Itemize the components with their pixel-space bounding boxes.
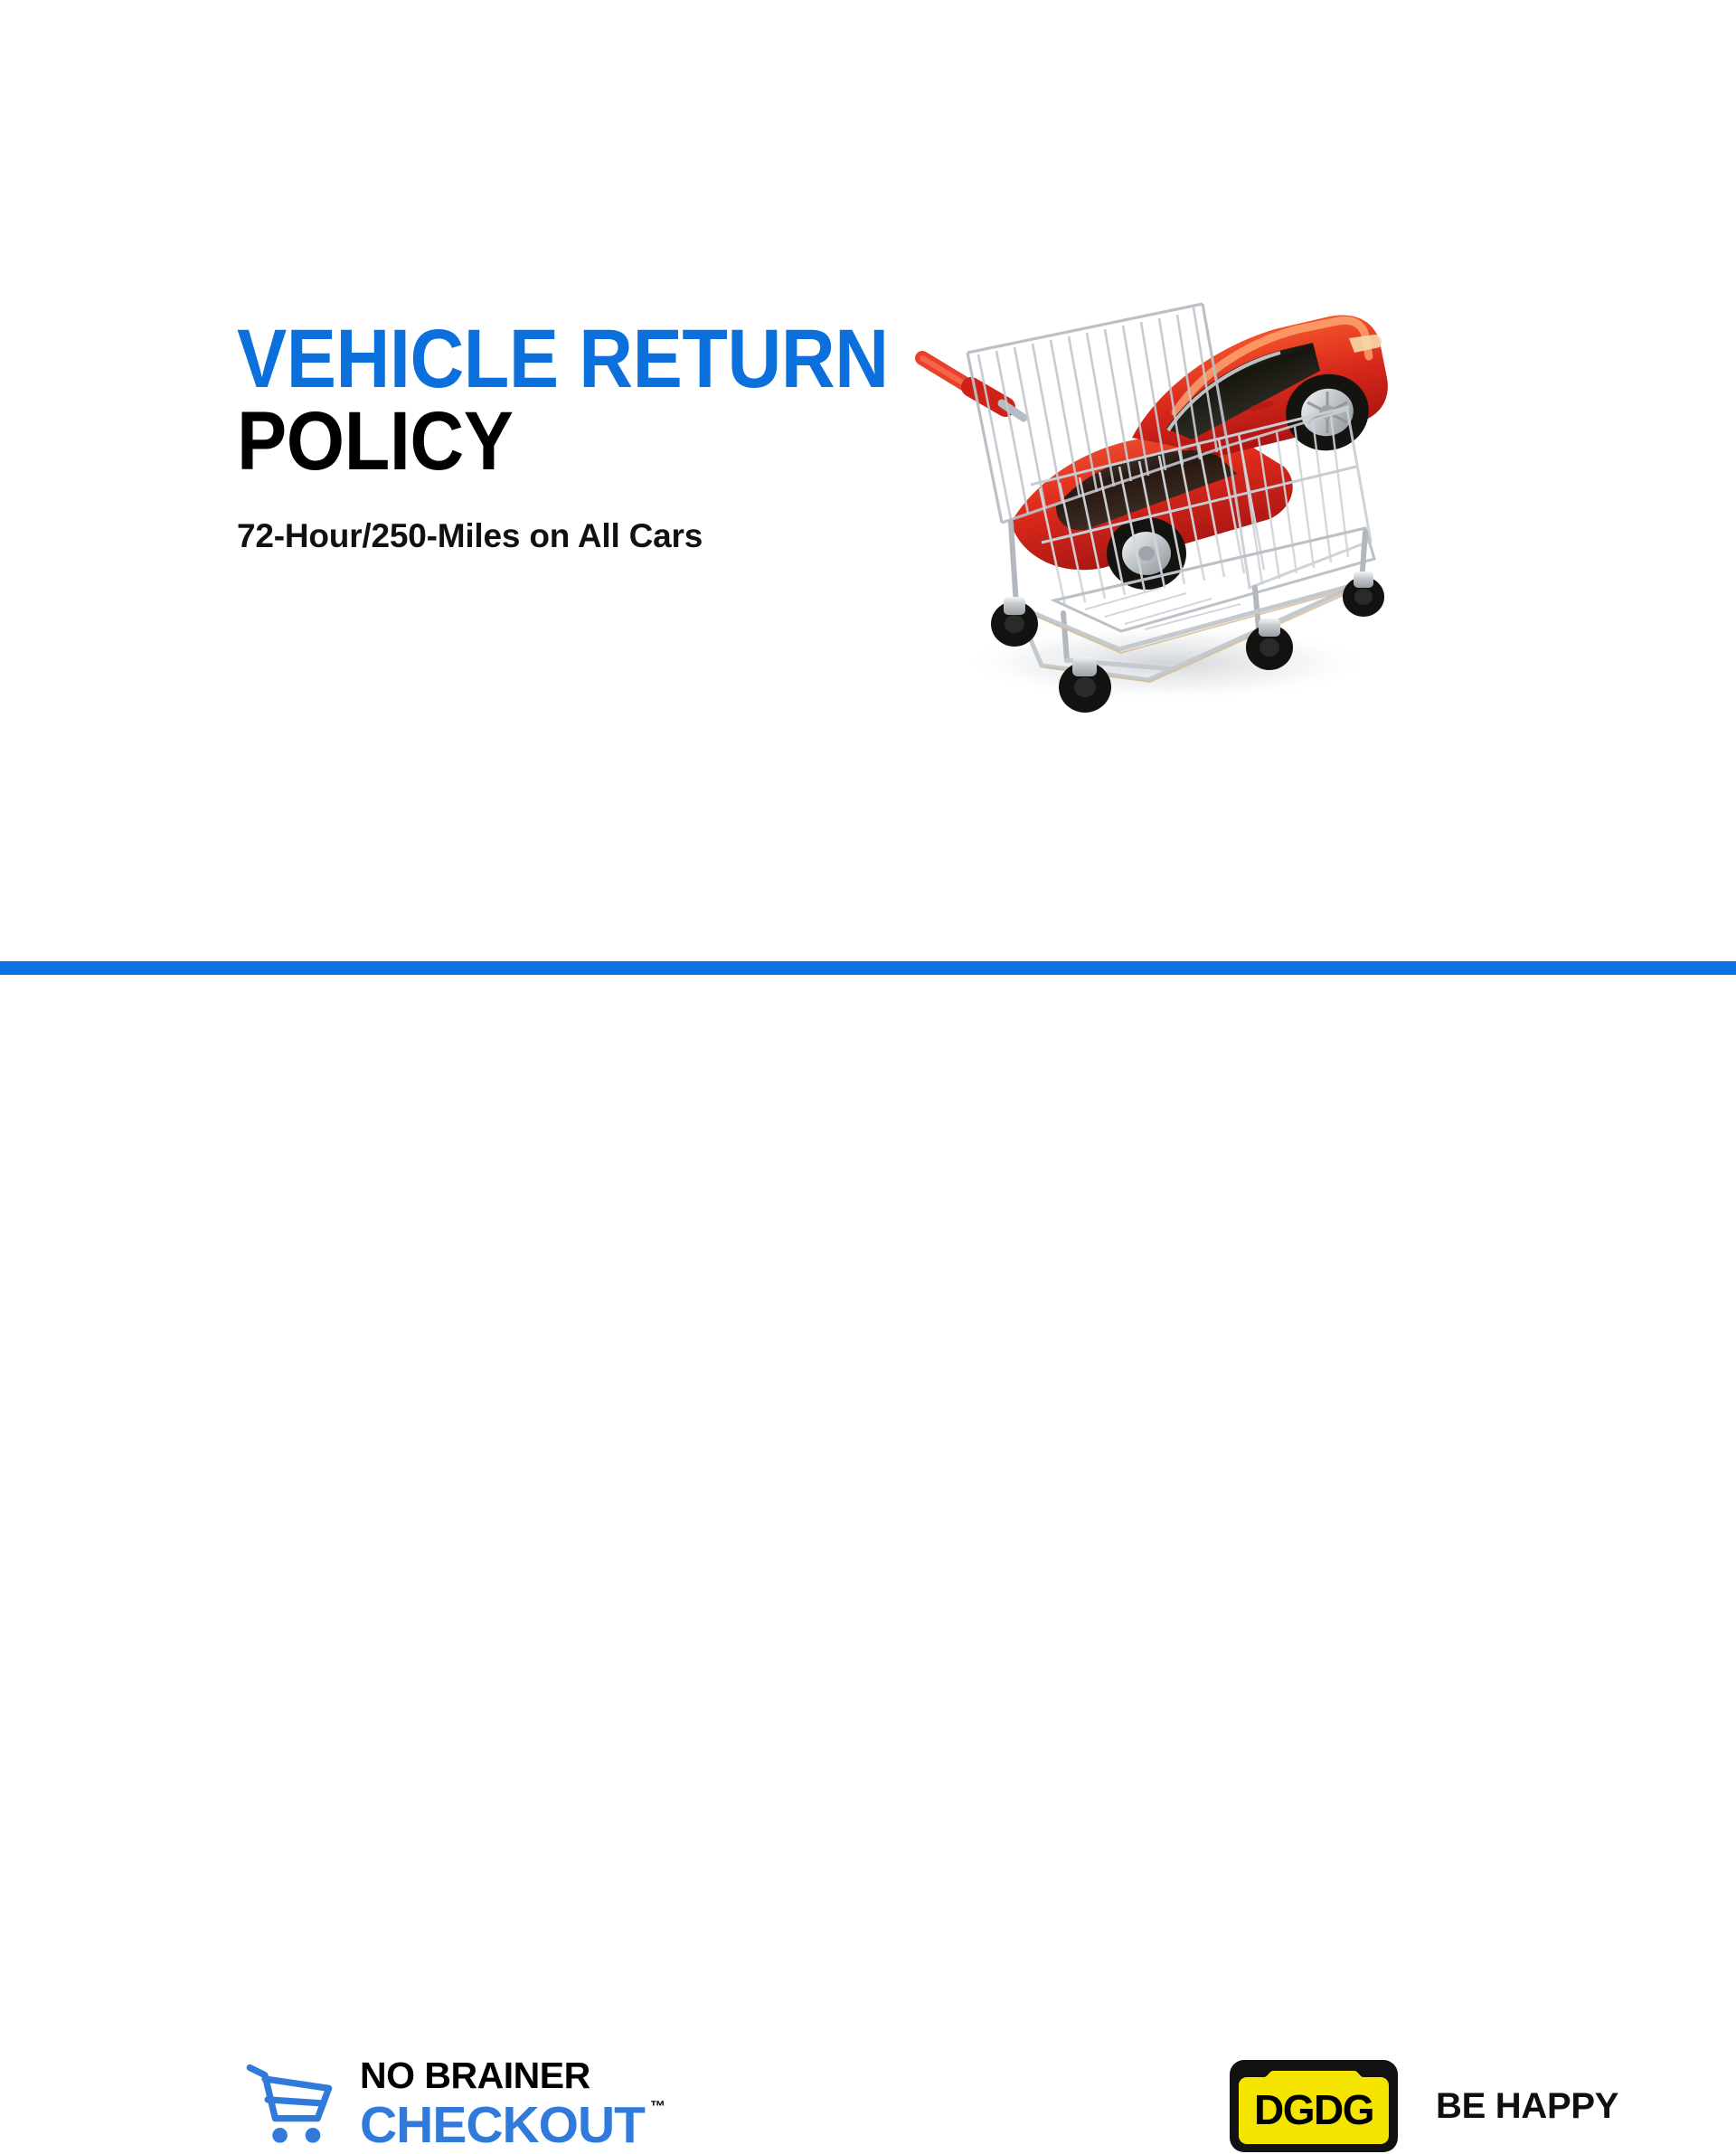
no-brainer-checkout-logo: NO BRAINER CHECKOUT™ xyxy=(242,2055,660,2151)
dgdg-tagline: BE HAPPY xyxy=(1436,2086,1618,2127)
subheadline: 72-Hour/250-Miles on All Cars xyxy=(237,479,870,555)
hero-section: VEHICLE RETURN POLICY 72-Hour/250-Miles … xyxy=(0,0,1736,961)
dgdg-plate-logo: DGDG xyxy=(1228,2058,1400,2154)
headline-block: VEHICLE RETURN POLICY 72-Hour/250-Miles … xyxy=(237,321,870,555)
dgdg-brand-lockup: DGDG BE HAPPY xyxy=(1228,2058,1618,2154)
page-title-line-2: POLICY xyxy=(237,403,807,480)
brand-line-no-brainer: NO BRAINER xyxy=(360,2057,660,2094)
dgdg-plate-label: DGDG xyxy=(1228,2058,1400,2154)
brand-line-checkout: CHECKOUT xyxy=(360,2100,645,2151)
slide-root: VEHICLE RETURN POLICY 72-Hour/250-Miles … xyxy=(0,0,1736,1302)
footer-section: NO BRAINER CHECKOUT™ DGDG BE HAPPY xyxy=(0,975,1736,1302)
brand-wordmark: NO BRAINER CHECKOUT™ xyxy=(360,2055,660,2151)
page-title-line-1: VEHICLE RETURN xyxy=(237,321,807,398)
cart-with-car-photo xyxy=(904,251,1410,722)
accent-divider-bar xyxy=(0,961,1736,975)
shopping-cart-icon xyxy=(242,2056,336,2150)
trademark-symbol: ™ xyxy=(650,2098,665,2115)
